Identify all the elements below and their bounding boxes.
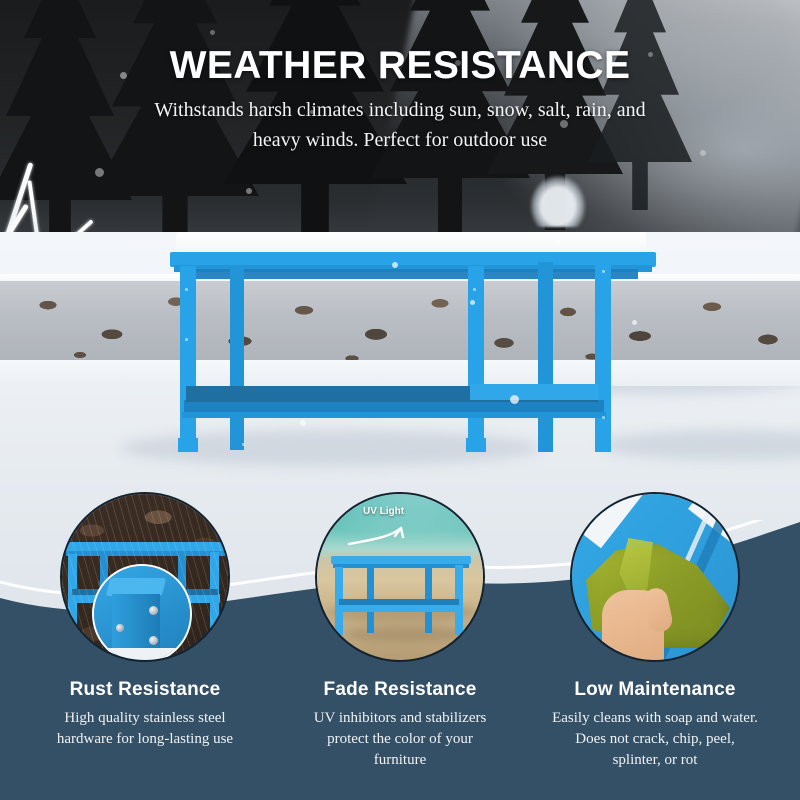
snowflake xyxy=(632,320,637,325)
feature-image-fade-resistance: UV Light xyxy=(315,492,485,662)
bench-leg xyxy=(538,262,553,452)
snowflake xyxy=(700,150,706,156)
feature-title-rust-resistance: Rust Resistance xyxy=(20,679,270,701)
uv-arrow-icon xyxy=(345,520,417,550)
snowflake xyxy=(470,300,475,305)
bench-leg xyxy=(180,266,196,452)
snow-shrub xyxy=(530,175,586,227)
bench-leg xyxy=(595,260,611,452)
feature-description-rust-resistance: High quality stainless steel hardware fo… xyxy=(50,708,240,750)
bench-foot xyxy=(466,438,486,452)
bench-snow-layer xyxy=(176,232,646,254)
snowflake xyxy=(392,262,398,268)
snowflake xyxy=(300,420,306,426)
screw-icon xyxy=(149,606,158,615)
product-bench xyxy=(170,238,660,478)
bench-screw xyxy=(602,270,605,273)
feature-title-low-maintenance: Low Maintenance xyxy=(530,679,780,701)
bench-shelf-highlight xyxy=(470,384,598,400)
bench-screw xyxy=(185,338,188,341)
bench-graphic xyxy=(331,548,471,644)
bench-foot xyxy=(178,438,198,452)
feature-title-fade-resistance: Fade Resistance xyxy=(275,679,525,701)
bench-screw xyxy=(473,288,476,291)
infographic-page: WEATHER RESISTANCE Withstands harsh clim… xyxy=(0,0,800,800)
bench-leg xyxy=(468,266,484,452)
bench-screw xyxy=(185,288,188,291)
bench-apron xyxy=(188,269,638,279)
bench-leg xyxy=(230,268,244,450)
snowflake xyxy=(95,168,104,177)
snowflake xyxy=(556,240,560,244)
snowflake xyxy=(510,395,519,404)
bench-screw xyxy=(602,416,605,419)
bench-screw xyxy=(242,443,245,446)
hero-subtitle: Withstands harsh climates including sun,… xyxy=(130,95,670,155)
bench-shelf-edge xyxy=(182,412,606,418)
screw-icon xyxy=(116,624,124,632)
snowflake xyxy=(210,30,215,35)
feature-image-low-maintenance xyxy=(570,492,740,662)
snowflake xyxy=(246,188,252,194)
uv-light-label: UV Light xyxy=(363,506,404,517)
feature-image-rust-resistance xyxy=(60,492,230,662)
hardware-magnifier-inset xyxy=(92,564,192,662)
screw-icon xyxy=(149,636,158,645)
page-title: WEATHER RESISTANCE xyxy=(0,44,800,88)
feature-description-fade-resistance: UV inhibitors and stabilizers protect th… xyxy=(312,708,488,771)
feature-description-low-maintenance: Easily cleans with soap and water. Does … xyxy=(552,708,758,771)
